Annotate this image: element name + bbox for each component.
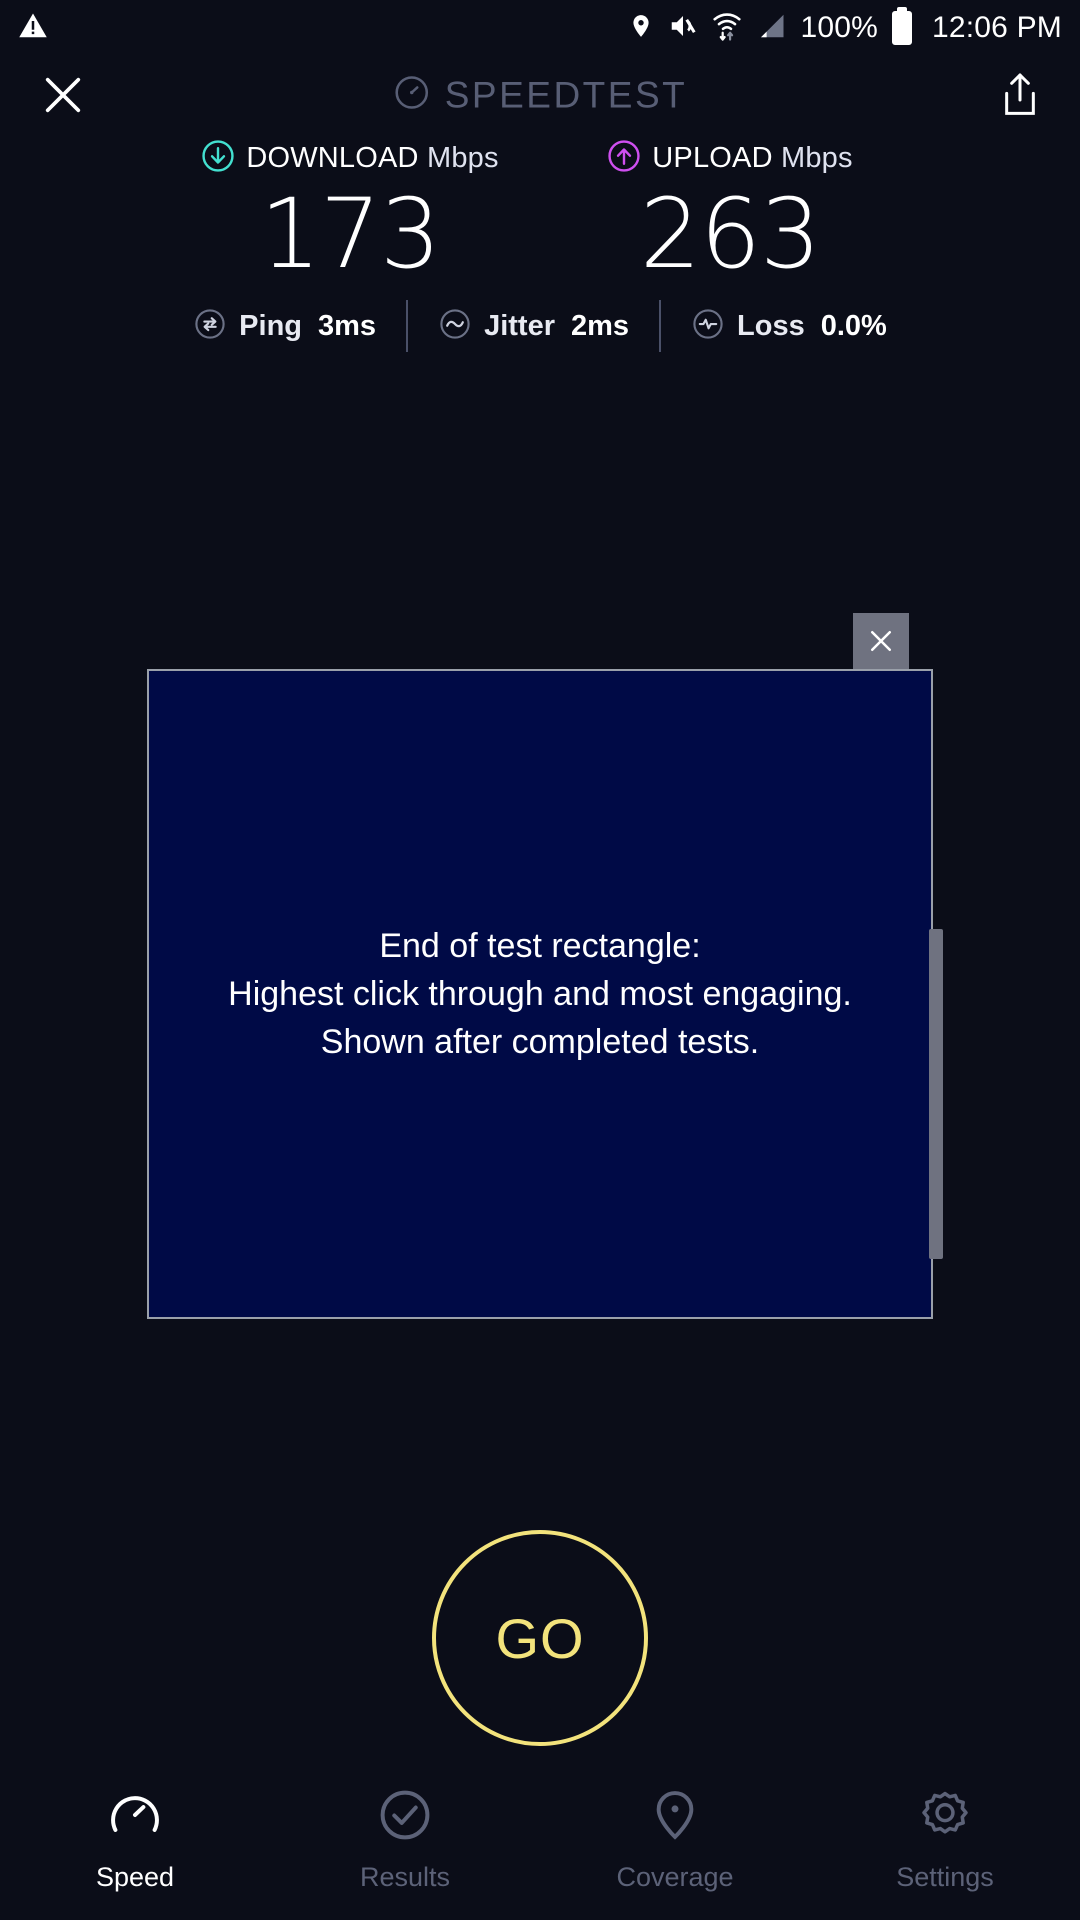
- ping-label: Ping: [239, 310, 302, 343]
- download-arrow-icon: [201, 139, 235, 178]
- nav-label-results: Results: [360, 1862, 450, 1893]
- nav-label-coverage: Coverage: [616, 1862, 733, 1893]
- jitter-metric: Jitter 2ms: [408, 307, 659, 346]
- speedtest-app-screen: 100% 12:06 PM SPEEDTEST: [0, 0, 1080, 1920]
- nav-item-settings[interactable]: Settings: [810, 1787, 1080, 1893]
- status-bar: 100% 12:06 PM: [0, 0, 1080, 56]
- close-icon[interactable]: [40, 72, 86, 118]
- gear-icon: [917, 1787, 973, 1848]
- loss-value: 0.0%: [821, 310, 887, 343]
- speedometer-icon: [107, 1787, 163, 1848]
- network-quality-row: Ping 3ms Jitter 2ms Loss 0.0%: [0, 300, 1080, 352]
- check-circle-icon: [377, 1787, 433, 1848]
- scrollbar-thumb[interactable]: [929, 929, 943, 1259]
- status-bar-left: [18, 11, 48, 46]
- nav-item-results[interactable]: Results: [270, 1787, 540, 1893]
- download-result: DOWNLOAD Mbps 173: [160, 136, 540, 286]
- loss-metric: Loss 0.0%: [661, 307, 917, 346]
- upload-arrow-icon: [607, 139, 641, 178]
- jitter-value: 2ms: [571, 310, 629, 343]
- nav-label-settings: Settings: [896, 1862, 994, 1893]
- volume-mute-icon: [668, 11, 698, 46]
- ad-body-text: End of test rectangle: Highest click thr…: [228, 922, 852, 1066]
- download-value: 173: [160, 182, 540, 286]
- upload-label: UPLOAD Mbps: [652, 142, 852, 175]
- upload-header: UPLOAD Mbps: [540, 136, 920, 180]
- results-summary: DOWNLOAD Mbps 173 UPLOAD Mbps 263: [0, 136, 1080, 352]
- bottom-navigation: Speed Results Coverage Settings: [0, 1760, 1080, 1920]
- ping-value: 3ms: [318, 310, 376, 343]
- speedometer-icon: [393, 74, 431, 117]
- loss-icon: [691, 307, 725, 346]
- brand: SPEEDTEST: [393, 74, 688, 117]
- jitter-icon: [438, 307, 472, 346]
- download-header: DOWNLOAD Mbps: [160, 136, 540, 180]
- status-bar-right: 100% 12:06 PM: [628, 10, 1062, 47]
- go-button[interactable]: GO: [432, 1530, 648, 1746]
- status-bar-clock: 12:06 PM: [932, 11, 1062, 45]
- brand-title: SPEEDTEST: [445, 74, 688, 116]
- location-pin-icon: [628, 11, 654, 46]
- nav-item-speed[interactable]: Speed: [0, 1787, 270, 1893]
- cell-signal-icon: [756, 11, 786, 46]
- ad-creative[interactable]: End of test rectangle: Highest click thr…: [147, 669, 933, 1319]
- ad-close-icon[interactable]: [853, 613, 909, 669]
- download-label: DOWNLOAD Mbps: [246, 142, 498, 175]
- app-header: SPEEDTEST: [0, 56, 1080, 134]
- battery-full-icon: [892, 11, 912, 45]
- upload-value: 263: [540, 182, 920, 286]
- warning-triangle-icon: [18, 11, 48, 46]
- ping-metric: Ping 3ms: [163, 307, 406, 346]
- loss-label: Loss: [737, 310, 805, 343]
- jitter-label: Jitter: [484, 310, 555, 343]
- wifi-icon: [712, 10, 742, 47]
- nav-item-coverage[interactable]: Coverage: [540, 1787, 810, 1893]
- speed-results-row: DOWNLOAD Mbps 173 UPLOAD Mbps 263: [0, 136, 1080, 286]
- ping-icon: [193, 307, 227, 346]
- go-button-label: GO: [495, 1606, 584, 1671]
- upload-result: UPLOAD Mbps 263: [540, 136, 920, 286]
- share-icon[interactable]: [1000, 71, 1040, 119]
- map-pin-icon: [647, 1787, 703, 1848]
- nav-label-speed: Speed: [96, 1862, 174, 1893]
- battery-percent-label: 100%: [800, 11, 878, 45]
